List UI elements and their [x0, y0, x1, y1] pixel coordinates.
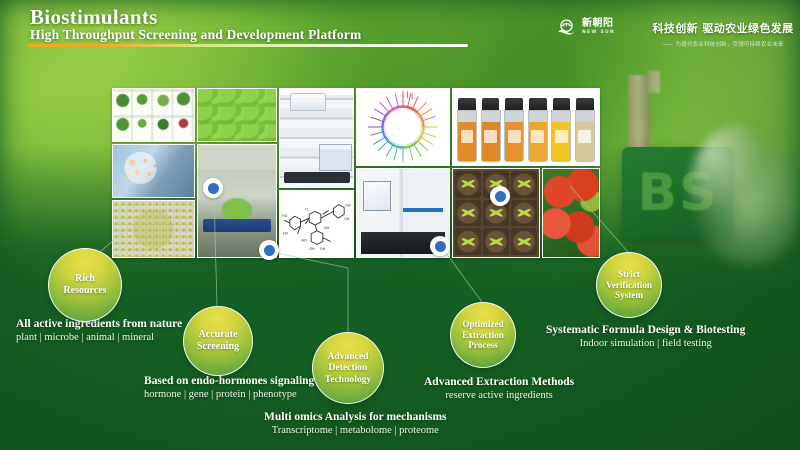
- badge-line: System: [602, 290, 656, 301]
- connector-strict-verification: [570, 186, 628, 252]
- connector-lines: [0, 0, 800, 450]
- badge-line: Strict: [602, 269, 656, 280]
- badge-line: Optimized: [458, 319, 508, 330]
- step-badge-optimized-extraction-process[interactable]: Optimized Extraction Process: [450, 302, 516, 368]
- badge-line: Advanced: [321, 351, 376, 362]
- caption-subtitle: plant | microbe | animal | mineral: [16, 332, 182, 343]
- badge-line: Technology: [321, 374, 376, 385]
- caption-title: Multi omics Analysis for mechanisms: [264, 411, 447, 423]
- connector-accurate-screening: [214, 196, 217, 306]
- caption-subtitle: hormone | gene | protein | phenotype: [144, 389, 314, 400]
- caption-title: Based on endo-hormones signaling: [144, 375, 314, 387]
- step-badge-strict-verification-system[interactable]: Strict Verification System: [596, 252, 662, 318]
- step-badge-advanced-detection-technology[interactable]: Advanced Detection Technology: [312, 332, 384, 404]
- blue-dot-marker-icon[interactable]: [490, 186, 510, 206]
- badge-line: Resources: [59, 285, 110, 297]
- step-badge-rich-resources[interactable]: Rich Resources: [48, 248, 122, 322]
- blue-dot-marker-icon[interactable]: [430, 236, 450, 256]
- blue-dot-marker-icon[interactable]: [203, 178, 223, 198]
- caption-advanced-detection-technology: Multi omics Analysis for mechanisms Tran…: [264, 411, 447, 436]
- badge-line: Rich: [59, 273, 110, 285]
- caption-rich-resources: All active ingredients from nature plant…: [16, 318, 182, 343]
- caption-subtitle: reserve active ingredients: [424, 390, 574, 401]
- caption-optimized-extraction-process: Advanced Extraction Methods reserve acti…: [424, 376, 574, 401]
- badge-line: Detection: [321, 362, 376, 373]
- caption-accurate-screening: Based on endo-hormones signaling hormone…: [144, 375, 314, 400]
- caption-title: All active ingredients from nature: [16, 318, 182, 330]
- badge-line: Verification: [602, 280, 656, 291]
- caption-strict-verification-system: Systematic Formula Design & Biotesting I…: [546, 324, 745, 349]
- blue-dot-marker-icon[interactable]: [259, 240, 279, 260]
- connector-advanced-detection: [272, 252, 348, 268]
- caption-title: Systematic Formula Design & Biotesting: [546, 324, 745, 336]
- caption-subtitle: Transcriptome | metabolome | proteome: [264, 425, 447, 436]
- badge-line: Accurate: [193, 329, 243, 341]
- step-badge-accurate-screening[interactable]: Accurate Screening: [183, 306, 253, 376]
- badge-line: Process: [458, 340, 508, 351]
- badge-line: Extraction: [458, 330, 508, 341]
- slide-canvas: BS Biostimulants High Throughput Screeni…: [0, 0, 800, 450]
- badge-line: Screening: [193, 341, 243, 353]
- caption-title: Advanced Extraction Methods: [424, 376, 574, 388]
- caption-subtitle: Indoor simulation | field testing: [546, 338, 745, 349]
